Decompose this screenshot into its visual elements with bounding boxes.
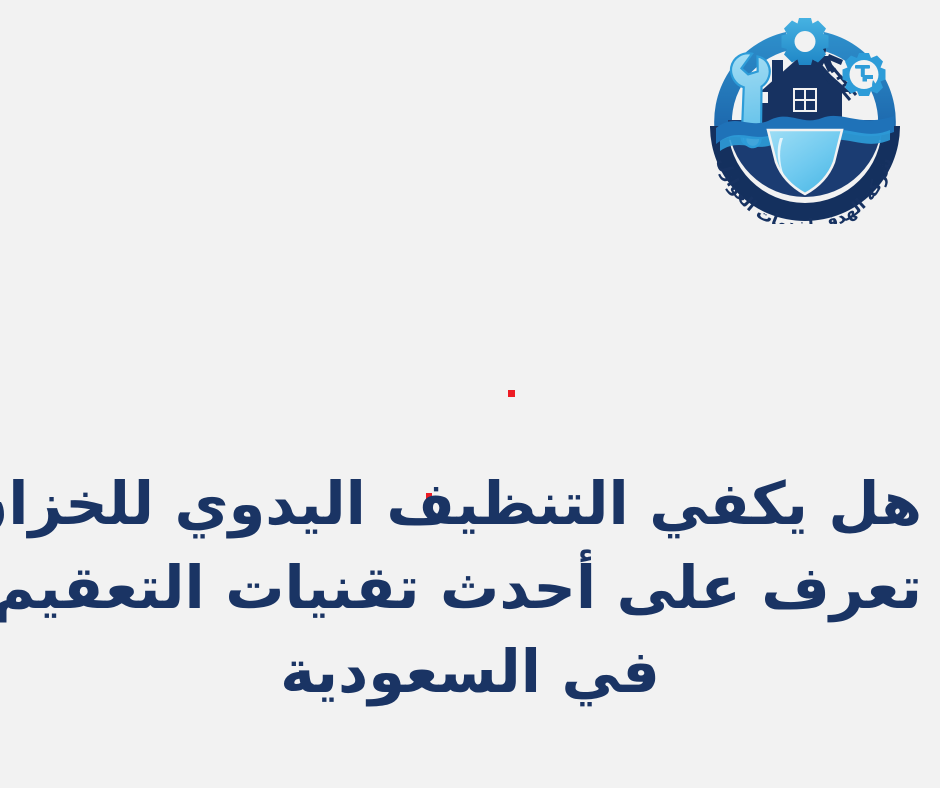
social-media-banner: شركة الهدف لخدمات العوازل هل يكفي التنظي… [0, 0, 940, 788]
red-mark-upper [508, 390, 515, 397]
company-logo: شركة الهدف لخدمات العوازل [698, 8, 912, 224]
headline-line-1: هل يكفي التنظيف اليدوي للخزان؟ [18, 462, 922, 546]
page-title: هل يكفي التنظيف اليدوي للخزان؟ تعرف على … [0, 462, 940, 713]
faucet-gear-badge-icon [843, 53, 886, 96]
gear-icon [782, 18, 829, 65]
headline-line-3: في السعودية [18, 630, 922, 714]
headline-line-2: تعرف على أحدث تقنيات التعقيم [18, 546, 922, 630]
